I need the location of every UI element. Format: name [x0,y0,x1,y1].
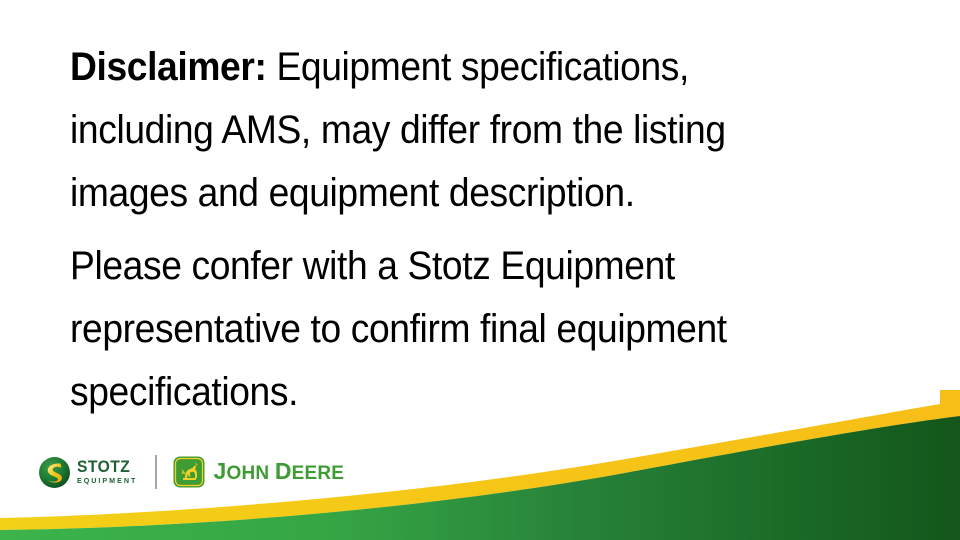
confer-body: Please confer with a Stotz Equipment rep… [70,244,727,414]
stotz-name: STOTZ [77,458,135,475]
paragraph-disclaimer: Disclaimer: Equipment specifications, in… [70,36,842,225]
slide-canvas: Disclaimer: Equipment specifications, in… [0,0,960,540]
stotz-circle-icon [38,456,71,489]
stotz-subtitle: EQUIPMENT [77,476,137,486]
jd-ohn: OHN [227,463,270,484]
stotz-equipment-logo: STOTZ EQUIPMENT [38,454,141,490]
disclaimer-text-block: Disclaimer: Equipment specifications, in… [70,36,900,424]
stotz-wordmark: STOTZ EQUIPMENT [77,458,141,486]
disclaimer-label: Disclaimer: [70,45,266,89]
jd-d: D [275,458,292,484]
footer-logo-bar: STOTZ EQUIPMENT JOHN DEERE [38,452,344,492]
john-deere-logo: JOHN DEERE [173,454,345,490]
john-deere-deer-icon [173,456,205,488]
john-deere-wordmark: JOHN DEERE [214,462,345,483]
jd-j: J [214,458,227,484]
logo-divider [155,455,157,489]
jd-eere: EERE [292,463,345,484]
